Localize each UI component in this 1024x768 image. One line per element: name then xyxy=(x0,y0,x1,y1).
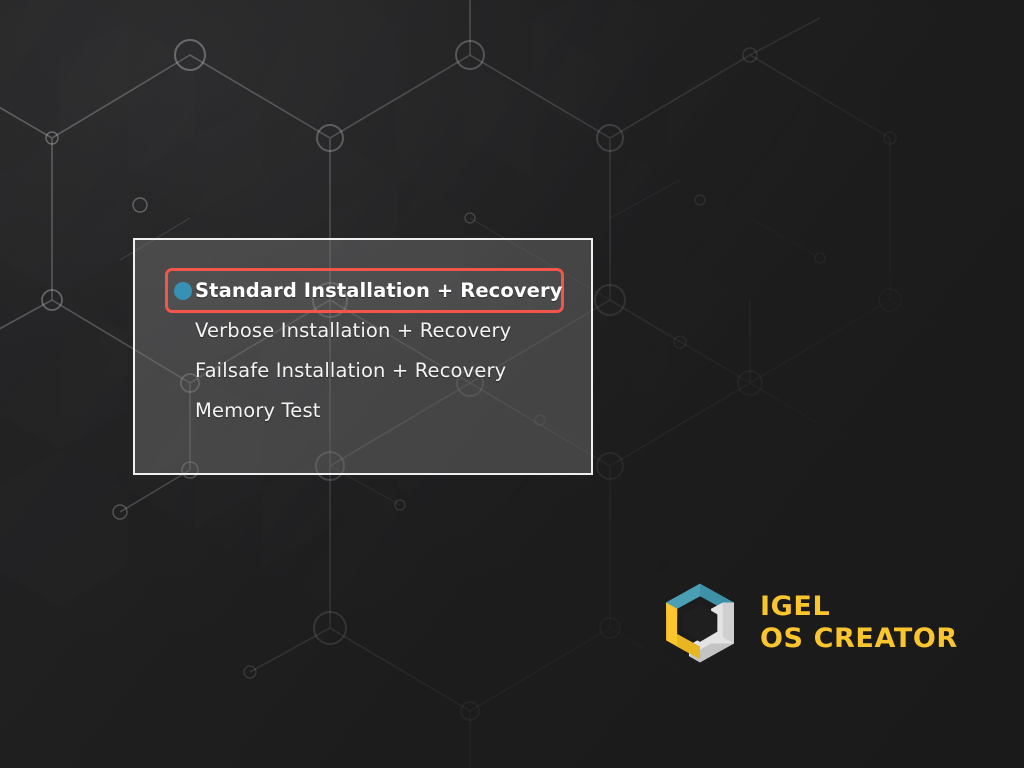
boot-menu-item-label: Verbose Installation + Recovery xyxy=(195,321,511,341)
boot-screen: Standard Installation + Recovery Verbose… xyxy=(0,0,1024,768)
logo-line-igel: IGEL xyxy=(760,592,958,621)
boot-menu-list[interactable]: Standard Installation + Recovery Verbose… xyxy=(135,240,591,431)
boot-menu-item-label: Standard Installation + Recovery xyxy=(195,281,563,301)
boot-menu-item-failsafe-installation[interactable]: Failsafe Installation + Recovery xyxy=(135,351,591,391)
logo-wordmark: IGEL OS CREATOR xyxy=(760,592,958,652)
boot-menu-item-label: Failsafe Installation + Recovery xyxy=(195,361,506,381)
logo-line-os-creator: OS CREATOR xyxy=(760,624,958,653)
boot-menu-panel: Standard Installation + Recovery Verbose… xyxy=(133,238,593,475)
boot-menu-item-standard-installation[interactable]: Standard Installation + Recovery xyxy=(135,271,591,311)
boot-menu-item-memory-test[interactable]: Memory Test xyxy=(135,391,591,431)
igel-hexagon-logo-icon xyxy=(660,582,740,664)
boot-menu-item-label: Memory Test xyxy=(195,401,321,421)
igel-os-creator-logo: IGEL OS CREATOR xyxy=(660,580,970,665)
selected-dot-icon xyxy=(174,282,192,300)
boot-menu-item-verbose-installation[interactable]: Verbose Installation + Recovery xyxy=(135,311,591,351)
